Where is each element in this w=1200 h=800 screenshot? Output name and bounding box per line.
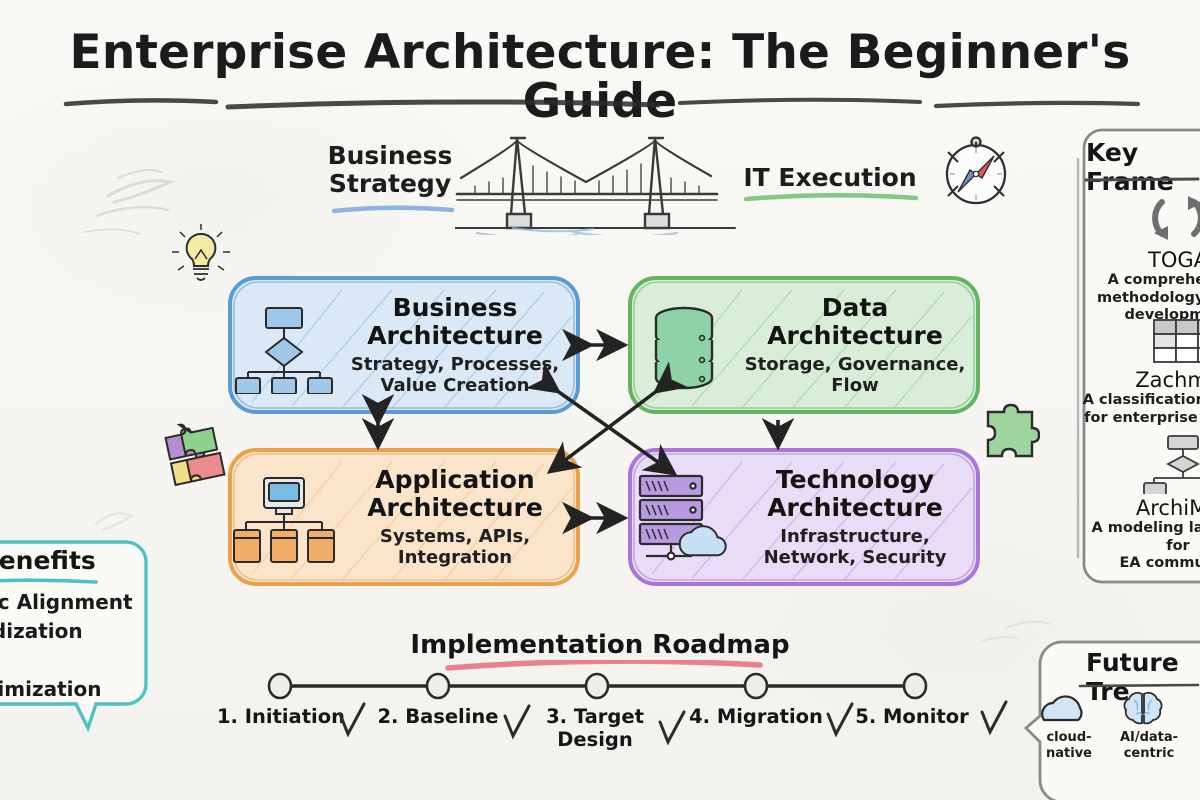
trend-item-ai-data-centric[interactable]: AI/data- centric (1112, 688, 1186, 761)
trend-ai-label-line1: AI/data- (1112, 730, 1186, 746)
roadmap-check-4 (828, 704, 852, 734)
trend-cloud-native-label: cloud-native (1032, 730, 1106, 761)
brain-icon (1112, 688, 1174, 728)
roadmap-check-1 (340, 704, 364, 734)
lightning-bolt-icon (1192, 688, 1200, 728)
cloud-icon (1032, 688, 1094, 728)
trend-ai-label-line2: centric (1112, 746, 1186, 762)
roadmap-check-3 (660, 712, 684, 742)
roadmap-check-5 (982, 702, 1006, 732)
trend-agile-label-line1: Agile/ (1192, 730, 1200, 746)
trend-agile-devops-label: Agile/ DevOps (1192, 730, 1200, 761)
trend-item-agile-devops[interactable]: Agile/ DevOps (1192, 688, 1200, 761)
trend-item-cloud-native[interactable]: cloud-native (1032, 688, 1106, 761)
trend-agile-label-line2: DevOps (1192, 746, 1200, 762)
trends-items: cloud-native AI/data- centric (1032, 688, 1200, 761)
whiteboard-canvas: Enterprise Architecture: The Beginner's … (0, 0, 1200, 800)
roadmap-checkmarks (0, 0, 1200, 800)
trend-ai-data-centric-label: AI/data- centric (1112, 730, 1186, 761)
roadmap-check-2 (505, 706, 529, 736)
